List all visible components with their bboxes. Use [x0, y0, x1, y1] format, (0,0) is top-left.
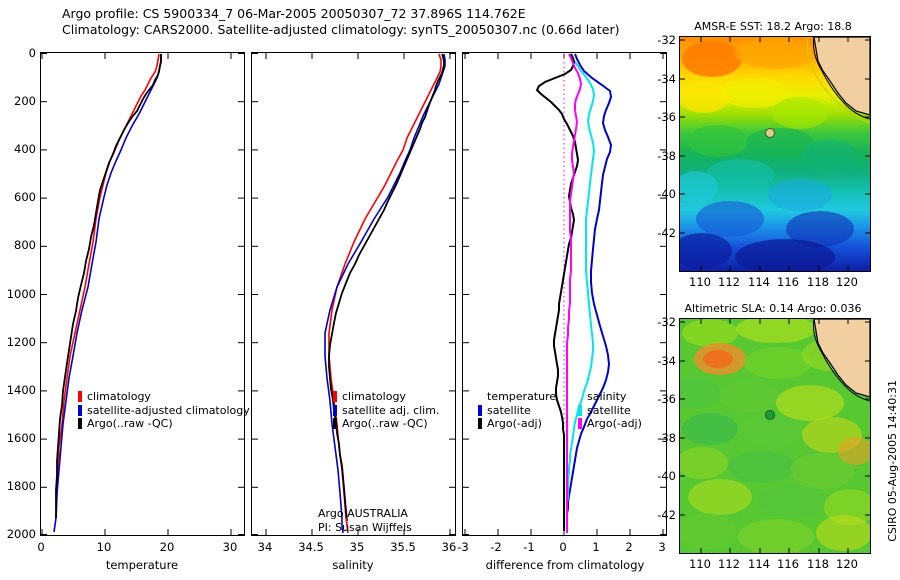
legend-label-satellite-adjusted: satellite-adjusted climatology — [87, 404, 250, 418]
xtick-difference-3: 3 — [647, 540, 677, 554]
sla-map-svg — [680, 319, 870, 553]
sla-ytick--40: -40 — [646, 469, 676, 483]
figure-title: Argo profile: CS 5900334_7 06-Mar-2005 2… — [62, 6, 682, 38]
sla-ytick--42: -42 — [646, 508, 676, 522]
sst-xtick-116: 116 — [773, 275, 803, 289]
title-line-2: Climatology: CARS2000. Satellite-adjuste… — [62, 22, 682, 38]
sla-xtick-118: 118 — [803, 557, 833, 571]
legend-item-salinity-satellite-adjusted: satellite adj. clim. — [333, 404, 439, 418]
sst-xtick-112: 112 — [714, 275, 744, 289]
sst-xtick-114: 114 — [744, 275, 774, 289]
xtick-difference-0: 0 — [548, 540, 578, 554]
legend-swatch-diff-salinity-argo — [578, 418, 582, 429]
legend-header-temperature: temperature — [487, 390, 556, 404]
sst-ytick--38: -38 — [646, 149, 676, 163]
sst-map-panel[interactable] — [679, 36, 871, 272]
xaxis-label-difference: difference from climatology — [470, 558, 660, 572]
legend-header-salinity: salinity — [587, 390, 626, 404]
sla-map-title: Altimetric SLA: 0.14 Argo: 0.036 — [668, 302, 878, 315]
sla-xtick-114: 114 — [744, 557, 774, 571]
xaxis-label-temperature: temperature — [72, 558, 212, 572]
sst-ytick--40: -40 — [646, 187, 676, 201]
ytick-1200: 1200 — [0, 335, 36, 349]
xtick-salinity-35: 35 — [342, 540, 372, 554]
sst-xtick-118: 118 — [803, 275, 833, 289]
temperature-profile-panel[interactable] — [40, 52, 245, 536]
ytick-1600: 1600 — [0, 431, 36, 445]
sst-ytick--32: -32 — [646, 33, 676, 47]
legend-label-argo-raw: Argo(..raw -QC) — [87, 417, 173, 431]
argo-credit: Argo AUSTRALIA PI: Susan Wijffels — [318, 507, 412, 534]
ytick-600: 600 — [4, 190, 36, 204]
temperature-plot-svg — [41, 53, 244, 535]
ytick-0: 0 — [4, 46, 36, 60]
difference-legend-salinity: salinity satellite Argo(-adj) — [578, 390, 642, 431]
ytick-800: 800 — [4, 238, 36, 252]
temperature-legend: climatology satellite-adjusted climatolo… — [78, 390, 250, 431]
xtick-salinity-35-5: 35.5 — [383, 540, 423, 554]
series-climatology-temperature — [56, 54, 159, 518]
sla-ytick--38: -38 — [646, 431, 676, 445]
xtick-temperature-30: 30 — [215, 540, 245, 554]
legend-label-diff-temperature-satellite: satellite — [487, 404, 531, 418]
sla-xtick-116: 116 — [773, 557, 803, 571]
sla-xtick-120: 120 — [832, 557, 862, 571]
xtick-temperature-10: 10 — [89, 540, 119, 554]
legend-swatch-argo-raw — [78, 418, 82, 429]
xtick-temperature-0: 0 — [26, 540, 56, 554]
difference-legend-temperature: temperature satellite Argo(-adj) — [478, 390, 556, 431]
sst-xtick-110: 110 — [685, 275, 715, 289]
legend-swatch-diff-temperature-satellite — [478, 405, 482, 416]
legend-swatch-climatology — [78, 391, 82, 402]
legend-label-salinity-climatology: climatology — [342, 390, 406, 404]
difference-profile-panel[interactable] — [462, 52, 667, 536]
legend-item-diff-temperature-argo: Argo(-adj) — [478, 417, 556, 431]
xtick-difference--2: -2 — [481, 540, 511, 554]
title-line-1: Argo profile: CS 5900334_7 06-Mar-2005 2… — [62, 6, 682, 22]
series-satellite-adjusted-temperature — [56, 54, 161, 518]
legend-label-diff-temperature-argo: Argo(-adj) — [487, 417, 542, 431]
sst-map-svg — [680, 37, 870, 271]
sst-ytick--36: -36 — [646, 110, 676, 124]
salinity-plot-svg — [252, 53, 455, 535]
xtick-temperature-20: 20 — [152, 540, 182, 554]
ytick-2000: 2000 — [0, 527, 36, 541]
legend-item-diff-salinity-satellite: satellite — [578, 404, 642, 418]
argo-position-marker — [766, 129, 775, 138]
csiro-timestamp: CSIRO 05-Aug-2005 14:40:31 — [886, 380, 899, 542]
legend-label-diff-salinity-argo: Argo(-adj) — [587, 417, 642, 431]
series-satellite-adjusted-temperature-deep — [54, 518, 56, 532]
legend-label-climatology: climatology — [87, 390, 151, 404]
legend-header-temperature-row: temperature — [478, 390, 556, 404]
legend-swatch-satellite-adjusted — [78, 405, 82, 416]
legend-label-salinity-argo-raw: Argo(..raw -QC) — [342, 417, 428, 431]
legend-item-satellite-adjusted: satellite-adjusted climatology — [78, 404, 250, 418]
legend-item-argo-raw: Argo(..raw -QC) — [78, 417, 250, 431]
legend-swatch-salinity-climatology — [333, 391, 337, 402]
legend-header-salinity-row: salinity — [578, 390, 642, 404]
ytick-1400: 1400 — [0, 383, 36, 397]
legend-label-diff-salinity-satellite: satellite — [587, 404, 631, 418]
xtick-difference--1: -1 — [514, 540, 544, 554]
sla-ytick--32: -32 — [646, 315, 676, 329]
legend-swatch-placeholder-temperature — [478, 391, 482, 402]
legend-swatch-diff-temperature-argo — [478, 418, 482, 429]
legend-item-diff-temperature-satellite: satellite — [478, 404, 556, 418]
sla-map-panel[interactable] — [679, 318, 871, 554]
sla-ytick--36: -36 — [646, 392, 676, 406]
figure-canvas: Argo profile: CS 5900334_7 06-Mar-2005 2… — [0, 0, 900, 580]
xtick-salinity-34: 34 — [250, 540, 280, 554]
series-satellite-adjusted-salinity — [325, 54, 445, 518]
xtick-difference--3: -3 — [448, 540, 478, 554]
legend-swatch-placeholder-salinity — [578, 391, 582, 402]
ytick-1000: 1000 — [0, 287, 36, 301]
xaxis-label-salinity: salinity — [283, 558, 423, 572]
legend-label-salinity-satellite-adjusted: satellite adj. clim. — [342, 404, 439, 418]
legend-item-salinity-climatology: climatology — [333, 390, 439, 404]
legend-item-salinity-argo-raw: Argo(..raw -QC) — [333, 417, 439, 431]
credit-line-1: Argo AUSTRALIA — [318, 507, 412, 521]
xtick-salinity-34-5: 34.5 — [291, 540, 331, 554]
xtick-difference-1: 1 — [581, 540, 611, 554]
difference-plot-svg — [463, 53, 666, 535]
sla-xtick-112: 112 — [714, 557, 744, 571]
series-difference-temperature-argo — [537, 54, 578, 531]
credit-line-2: PI: Susan Wijffels — [318, 521, 412, 535]
sst-ytick--34: -34 — [646, 72, 676, 86]
series-climatology-salinity — [329, 54, 441, 518]
xtick-difference-2: 2 — [614, 540, 644, 554]
salinity-legend: climatology satellite adj. clim. Argo(..… — [333, 390, 439, 431]
legend-swatch-salinity-satellite-adjusted — [333, 405, 337, 416]
ytick-200: 200 — [4, 94, 36, 108]
series-difference-salinity-satellite — [567, 54, 594, 533]
sst-ytick--42: -42 — [646, 226, 676, 240]
legend-swatch-salinity-argo-raw — [333, 418, 337, 429]
sla-xtick-110: 110 — [685, 557, 715, 571]
sst-map-title: AMSR-E SST: 18.2 Argo: 18.8 — [668, 20, 878, 33]
argo-position-marker-sla — [766, 411, 775, 420]
legend-item-diff-salinity-argo: Argo(-adj) — [578, 417, 642, 431]
ytick-1800: 1800 — [0, 479, 36, 493]
salinity-profile-panel[interactable] — [251, 52, 456, 536]
legend-item-climatology: climatology — [78, 390, 250, 404]
sst-xtick-120: 120 — [832, 275, 862, 289]
ytick-400: 400 — [4, 142, 36, 156]
sla-ytick--34: -34 — [646, 354, 676, 368]
series-argo-raw-salinity — [329, 54, 444, 521]
legend-swatch-diff-salinity-satellite — [578, 405, 582, 416]
series-argo-raw-temperature — [56, 54, 161, 518]
